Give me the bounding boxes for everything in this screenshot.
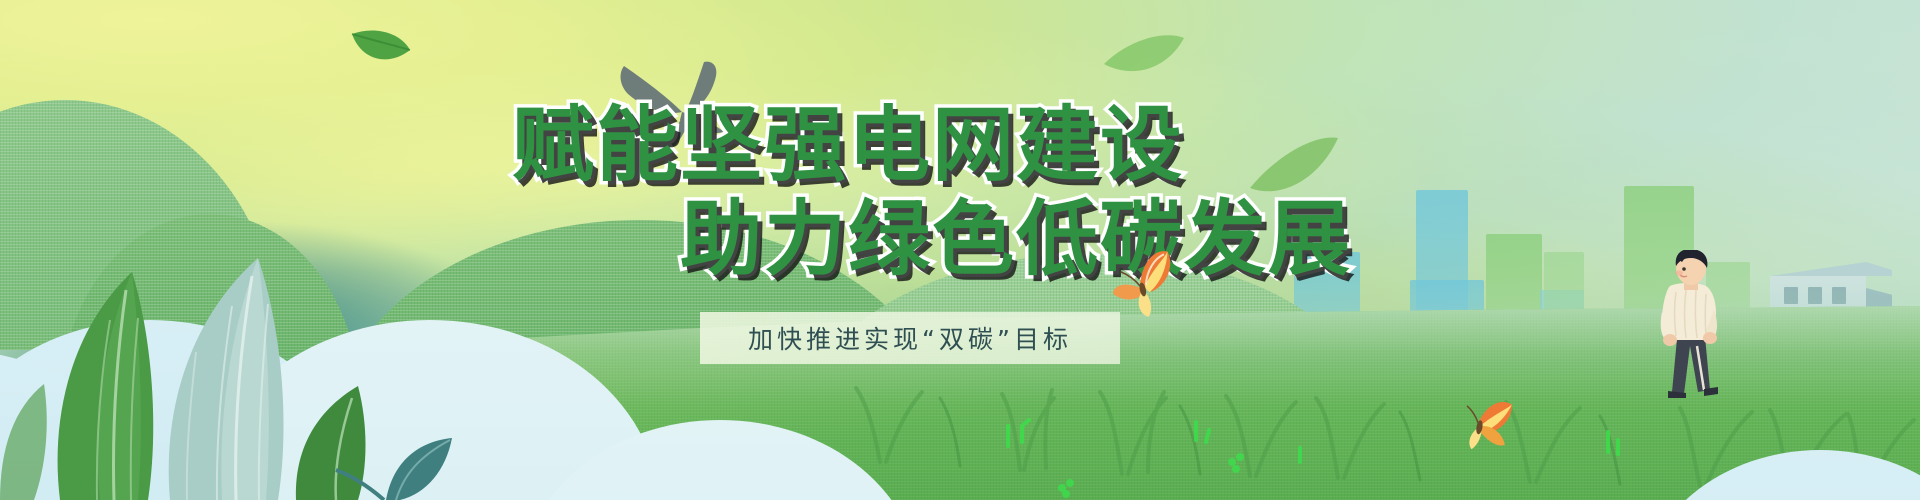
person-eye <box>1682 267 1686 271</box>
person-hand-left <box>1663 334 1677 346</box>
butterfly-lower <box>1460 396 1513 455</box>
butterflies <box>0 0 1920 500</box>
butterfly-upper <box>1106 250 1180 323</box>
person-blush <box>1675 270 1683 275</box>
person-hand-right <box>1703 332 1717 344</box>
green-power-banner: 赋能坚强电网建设 助力绿色低碳发展 加快推进实现“双碳”目标 <box>0 0 1920 500</box>
walking-person <box>1648 250 1738 398</box>
